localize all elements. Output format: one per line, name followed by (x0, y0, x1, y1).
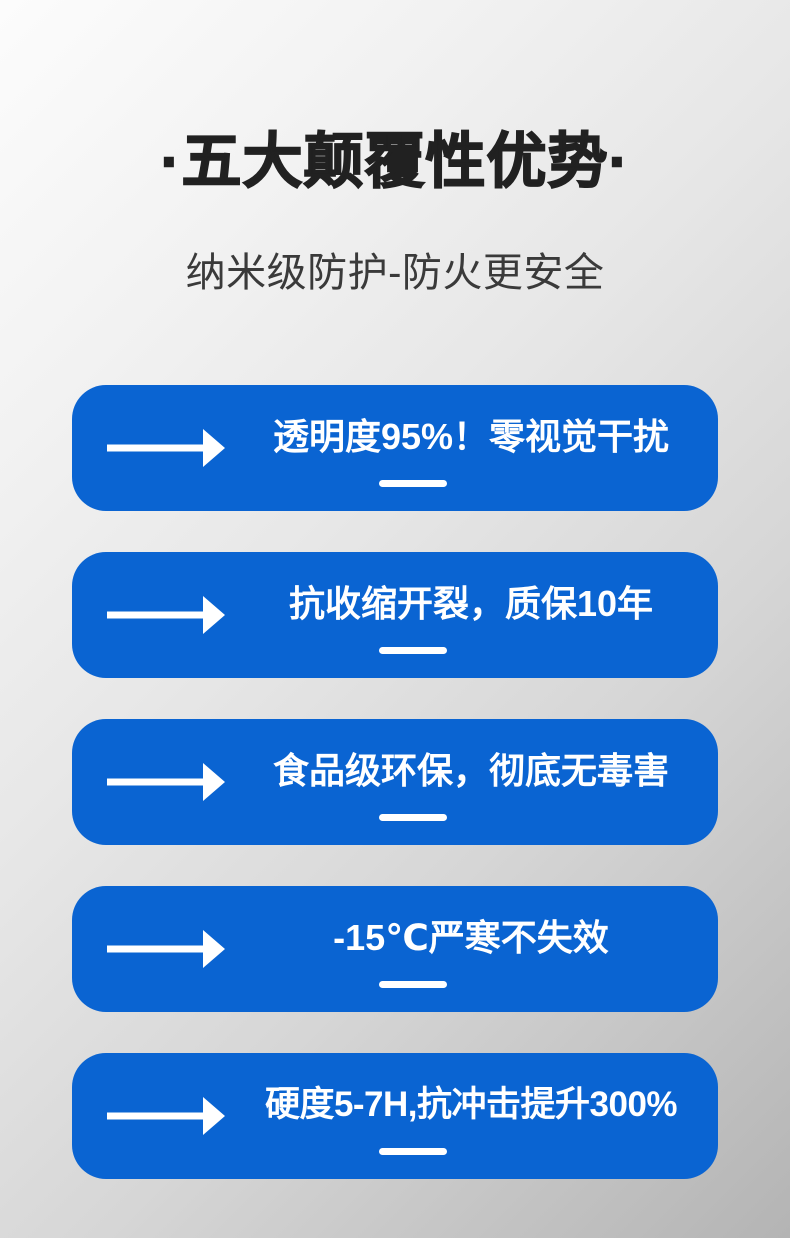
advantage-card[interactable]: -15℃严寒不失效 (72, 886, 718, 1012)
advantage-card-label: -15℃严寒不失效 (232, 912, 710, 964)
arrow-right-icon (107, 1095, 225, 1137)
page-subtitle: 纳米级防护-防火更安全 (0, 247, 790, 299)
advantage-card[interactable]: 食品级环保，彻底无毒害 (72, 719, 718, 845)
arrow-right-icon (107, 594, 225, 636)
advantage-card-label: 食品级环保，彻底无毒害 (232, 745, 710, 797)
advantage-card-label: 透明度95%！零视觉干扰 (232, 411, 710, 463)
advantage-card-label: 抗收缩开裂，质保10年 (232, 578, 710, 630)
arrow-right-icon (107, 928, 225, 970)
advantage-card-label: 硬度5-7H,抗冲击提升300% (232, 1079, 710, 1131)
arrow-right-icon (107, 761, 225, 803)
card-underline (72, 814, 718, 821)
arrow-right-icon (107, 427, 225, 469)
advantage-card-list: 透明度95%！零视觉干扰 抗收缩开裂，质保10年 食品级环保，彻底无毒害 (72, 385, 718, 1179)
card-underline (72, 480, 718, 487)
advantage-card[interactable]: 抗收缩开裂，质保10年 (72, 552, 718, 678)
page-title: ·五大颠覆性优势· (0, 126, 790, 198)
card-underline (72, 981, 718, 988)
advantage-card[interactable]: 硬度5-7H,抗冲击提升300% (72, 1053, 718, 1179)
advantage-card[interactable]: 透明度95%！零视觉干扰 (72, 385, 718, 511)
card-underline (72, 1148, 718, 1155)
card-underline (72, 647, 718, 654)
promo-page: ·五大颠覆性优势· 纳米级防护-防火更安全 透明度95%！零视觉干扰 抗收缩开裂… (0, 0, 790, 1238)
